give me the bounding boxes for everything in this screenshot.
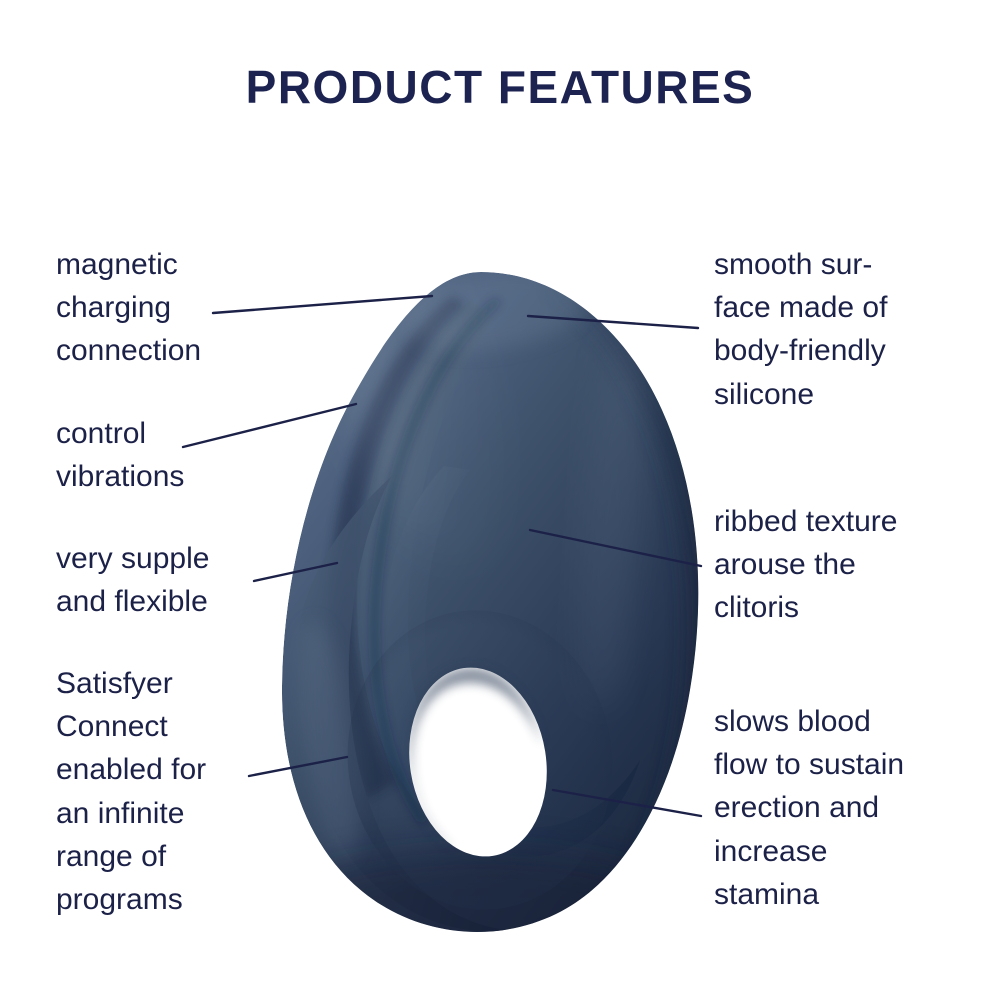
product-swirl-ridge-1 [357,300,640,857]
leader-line-ribbed-texture-clitoris [530,530,701,566]
product-highlight-upper-left [299,216,541,584]
ring-hole [396,658,560,867]
callout-label-control-vibrations: control vibrations [56,412,306,498]
product-bore-shading [328,593,631,927]
callout-label-ribbed-texture-clitoris: ribbed texture arouse the clitoris [714,500,964,630]
ring-hole-inner-shadow [396,658,556,854]
product-highlight-crown [403,257,597,364]
leader-line-smooth-surface-silicone [528,316,698,328]
product-right-flank-shading [520,240,740,960]
product-features-infographic: PRODUCT FEATURES [0,0,1000,1000]
product-left-rim [298,476,508,931]
callout-label-magnetic-charging-connection: magnetic charging connection [56,243,306,373]
product-body-shape [282,272,698,932]
callout-label-very-supple-and-flexible: very supple and flexible [56,537,306,623]
page-title: PRODUCT FEATURES [0,60,1000,114]
callout-label-satisfyer-connect-enabled: Satisfyer Connect enabled for an infinit… [56,662,306,921]
product-groove-line [374,300,498,822]
product-ridge-shadow-1 [328,296,466,800]
callout-label-smooth-surface-silicone: smooth sur- face made of body-friendly s… [714,243,964,416]
product-swirl-ridge-2 [382,466,592,827]
callout-label-slows-blood-flow: slows blood flow to sustain erection and… [714,700,974,916]
product-highlight-right [569,328,655,711]
leader-line-slows-blood-flow [553,790,701,816]
product-bottom-shading [250,852,710,1000]
